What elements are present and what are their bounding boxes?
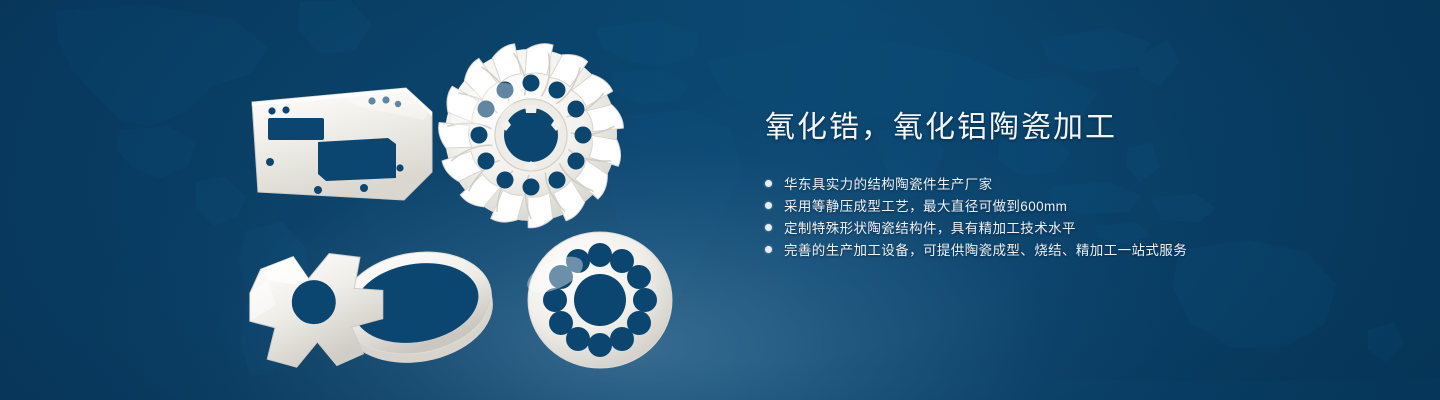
feature-list: 华东具实力的结构陶瓷件生产厂家 采用等静压成型工艺，最大直径可做到600mm 定… <box>765 172 1365 260</box>
list-item: 采用等静压成型工艺，最大直径可做到600mm <box>765 194 1365 216</box>
product-ceramic-machined-plate <box>246 80 446 210</box>
bullet-dot-icon <box>765 180 772 187</box>
feature-text: 采用等静压成型工艺，最大直径可做到600mm <box>784 195 1067 215</box>
banner-copy: 氧化锆，氧化铝陶瓷加工 华东具实力的结构陶瓷件生产厂家 采用等静压成型工艺，最大… <box>765 108 1365 260</box>
list-item: 华东具实力的结构陶瓷件生产厂家 <box>765 172 1365 194</box>
feature-text: 华东具实力的结构陶瓷件生产厂家 <box>784 173 993 193</box>
product-ceramic-perforated-disc <box>520 225 680 375</box>
list-item: 定制特殊形状陶瓷结构件，具有精加工技术水平 <box>765 216 1365 238</box>
bullet-dot-icon <box>765 224 772 231</box>
ceramic-product-gallery <box>228 40 728 380</box>
bullet-dot-icon <box>765 202 772 209</box>
list-item: 完善的生产加工设备，可提供陶瓷成型、烧结、精加工一站式服务 <box>765 238 1365 260</box>
page-title: 氧化锆，氧化铝陶瓷加工 <box>765 108 1365 148</box>
hero-banner: 氧化锆，氧化铝陶瓷加工 华东具实力的结构陶瓷件生产厂家 采用等静压成型工艺，最大… <box>0 0 1440 400</box>
product-ceramic-cross-part-and-ring <box>238 225 508 375</box>
product-ceramic-impeller-wheel <box>436 45 626 225</box>
feature-text: 完善的生产加工设备，可提供陶瓷成型、烧结、精加工一站式服务 <box>784 239 1187 259</box>
bullet-dot-icon <box>765 246 772 253</box>
feature-text: 定制特殊形状陶瓷结构件，具有精加工技术水平 <box>784 217 1076 237</box>
